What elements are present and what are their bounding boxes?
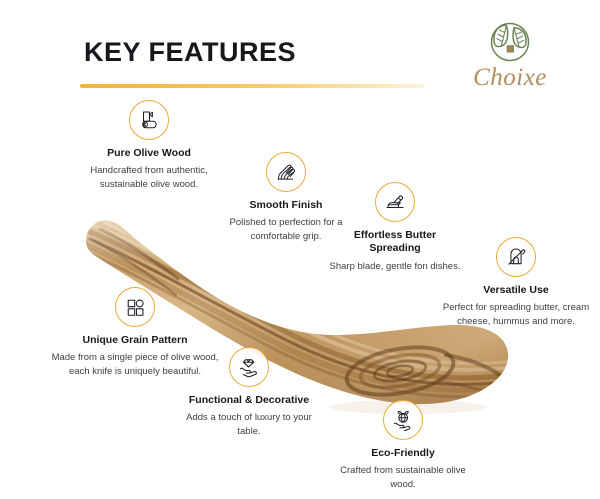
- feature-title: Eco-Friendly: [330, 447, 476, 460]
- feature-title: Unique Grain Pattern: [50, 334, 220, 347]
- page-title: KEY FEATURES: [84, 37, 296, 68]
- hand-holding-diamond-icon: [229, 347, 269, 387]
- bread-slice-knife-icon: [496, 237, 536, 277]
- feature-pure-olive-wood[interactable]: Pure Olive Wood Handcrafted from authent…: [68, 100, 230, 191]
- infographic-canvas: KEY FEATURES Choixe: [0, 0, 600, 499]
- brand-name: Choixe: [452, 65, 568, 90]
- butter-knife-spreading-icon: [375, 182, 415, 222]
- feature-description: Perfect for spreading butter, cream chee…: [440, 301, 592, 328]
- feature-eco-friendly[interactable]: Eco-Friendly Crafted from sustainable ol…: [330, 400, 476, 491]
- wood-log-icon: [129, 100, 169, 140]
- feature-title: Functional & Decorative: [175, 394, 323, 407]
- feature-description: Adds a touch of luxury to your table.: [175, 411, 323, 438]
- feature-title: Versatile Use: [440, 284, 592, 297]
- hand-holding-globe-icon: [383, 400, 423, 440]
- brand-logo: Choixe: [452, 20, 568, 90]
- olive-leaves-circle-emblem-icon: [483, 20, 537, 64]
- feature-versatile-use[interactable]: Versatile Use Perfect for spreading butt…: [440, 237, 592, 328]
- feature-description: Handcrafted from authentic, sustainable …: [68, 164, 230, 191]
- title-divider: [80, 84, 425, 88]
- feature-title: Pure Olive Wood: [68, 147, 230, 160]
- shapes-grid-icon: [115, 287, 155, 327]
- feature-description: Crafted from sustainable olive wood.: [330, 464, 476, 491]
- feature-functional-decorative[interactable]: Functional & Decorative Adds a touch of …: [175, 347, 323, 438]
- polishing-hand-icon: [266, 152, 306, 192]
